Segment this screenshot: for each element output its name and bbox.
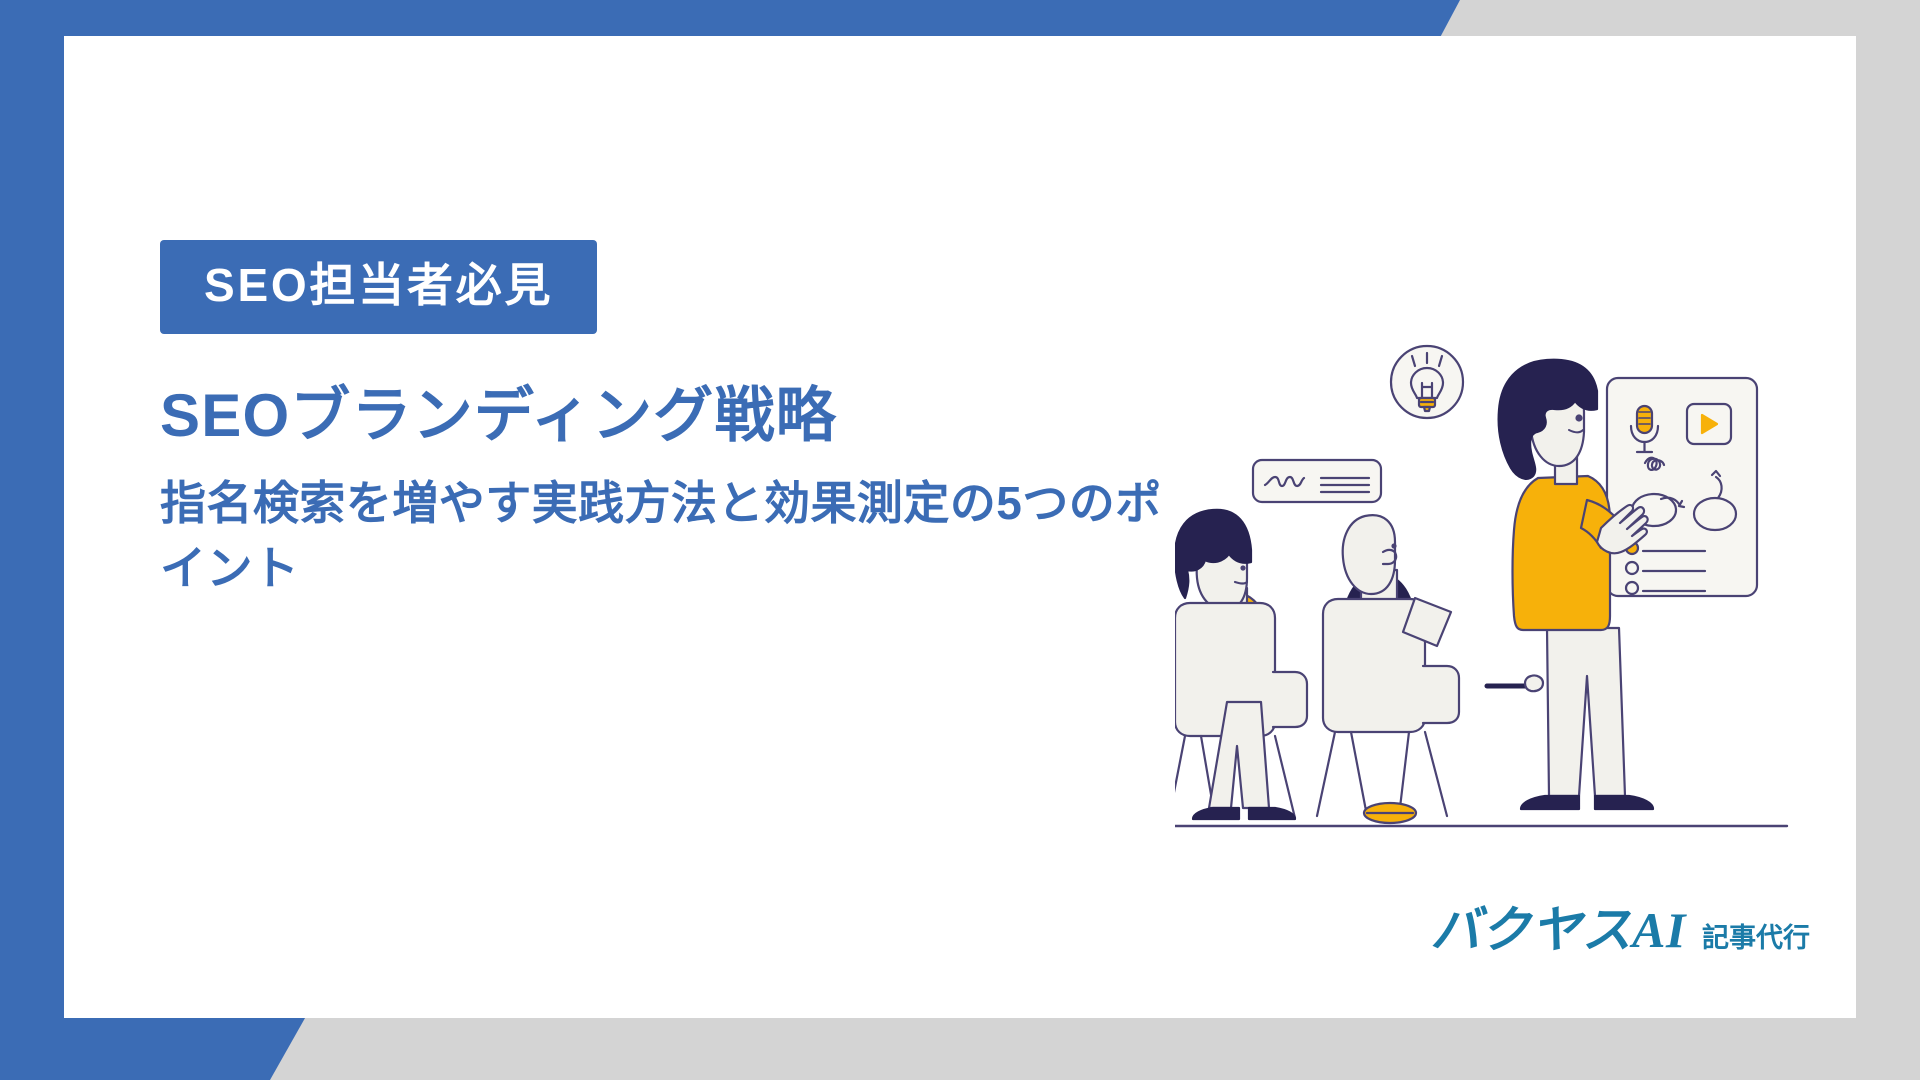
seated-person-left — [1175, 510, 1307, 819]
seated-person-center — [1317, 515, 1459, 823]
badge-seo-audience: SEO担当者必見 — [160, 240, 597, 334]
text-column: SEO担当者必見 SEOブランディング戦略 指名検索を増やす実践方法と効果測定の… — [160, 240, 1180, 602]
brand-logo: バクヤスAI 記事代行 — [1430, 905, 1810, 955]
page-subtitle: 指名検索を増やす実践方法と効果測定の5つのポイント — [160, 471, 1170, 602]
chat-bubble-text-icon — [1253, 460, 1381, 502]
play-button-icon — [1687, 404, 1731, 444]
brand-logo-name: バクヤスAI — [1430, 905, 1686, 955]
brand-logo-service: 記事代行 — [1702, 925, 1810, 952]
page-title: SEOブランディング戦略 — [160, 378, 1180, 453]
presentation-board — [1607, 378, 1757, 596]
presentation-meeting-illustration — [1175, 330, 1815, 870]
lightbulb-idea-icon — [1391, 346, 1463, 418]
poster-canvas: SEO担当者必見 SEOブランディング戦略 指名検索を増やす実践方法と効果測定の… — [0, 0, 1920, 1080]
